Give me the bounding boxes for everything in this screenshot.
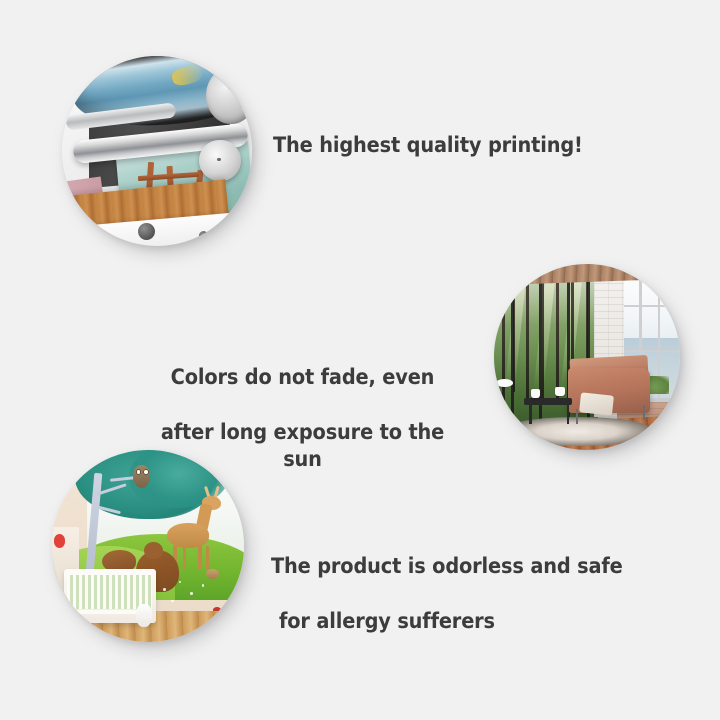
coffee-cup [531, 389, 540, 398]
roller-hub-disc [199, 140, 241, 182]
printing-machine-photo [62, 56, 252, 246]
sofa-leg [643, 405, 646, 420]
roll-end-cap [206, 67, 252, 124]
side-table [496, 379, 513, 386]
deer-body [167, 523, 209, 548]
partition-mullion [511, 268, 514, 424]
caption-printing: The highest quality printing! [273, 132, 583, 159]
window-transom [624, 350, 680, 352]
deer-leg [183, 546, 187, 569]
caption-odorless: The product is odorless and safe for all… [271, 526, 623, 662]
medallion-colorfast [494, 264, 680, 450]
tree-trunk [526, 264, 528, 405]
window-transom [624, 305, 680, 307]
owl-eye [136, 469, 142, 475]
medallion-printing [62, 56, 252, 246]
caption-colorfast-line-1: Colors do not fade, even [150, 364, 455, 391]
rabbit [136, 604, 151, 627]
tree-trunk [556, 264, 558, 405]
coffee-cup [555, 387, 564, 396]
medallion-odorless [52, 450, 244, 642]
tree-trunk [542, 264, 544, 398]
deer-leg [198, 546, 202, 569]
sofa-leg [576, 409, 579, 424]
table-leg [567, 404, 569, 424]
owl-eye [143, 469, 149, 475]
infographic-canvas: The highest quality printing! [0, 0, 720, 720]
table-leg [529, 404, 531, 424]
nursery-woodland-mural-photo [52, 450, 244, 642]
living-room-forest-mural-photo [494, 264, 680, 450]
caption-odorless-line-1: The product is odorless and safe [271, 553, 623, 580]
throw-cushion [579, 392, 614, 416]
caption-odorless-line-2: for allergy sufferers [271, 608, 623, 635]
deer-leg [206, 546, 210, 569]
hedgehog [206, 569, 219, 579]
